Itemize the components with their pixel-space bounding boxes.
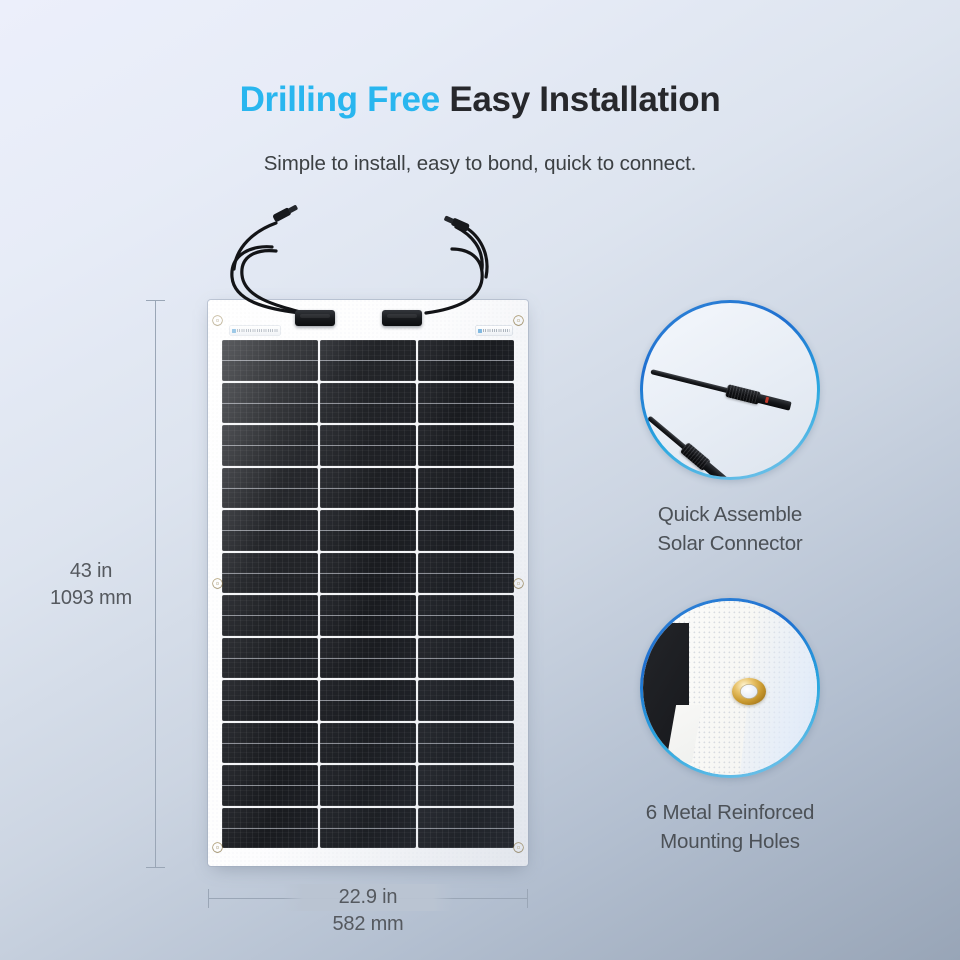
height-dimension-inches: 43 in [32, 558, 150, 585]
solar-cell [418, 723, 514, 764]
solar-cell [222, 340, 318, 381]
solar-cell [222, 765, 318, 806]
solar-cell [320, 340, 416, 381]
feature-holes-caption-line2: Mounting Holes [565, 827, 895, 856]
solar-cell [418, 765, 514, 806]
solar-cell [222, 680, 318, 721]
feature-holes-circle [640, 598, 820, 778]
solar-cell [222, 468, 318, 509]
solar-cell [320, 808, 416, 849]
mc4-tip-lower [703, 461, 739, 477]
solar-cell [222, 510, 318, 551]
height-dimension-mm: 1093 mm [32, 585, 150, 612]
page-title-rest: Easy Installation [440, 80, 721, 119]
panel-label-sticker-left [230, 326, 280, 335]
panel-label-sticker-right [476, 326, 512, 335]
solar-cell [418, 638, 514, 679]
width-dimension-cap-left [208, 889, 209, 908]
solar-cell [418, 510, 514, 551]
solar-cell [320, 553, 416, 594]
feature-connector-caption: Quick Assemble Solar Connector [565, 500, 895, 558]
mc4-connector-icon [643, 303, 817, 477]
solar-cell [320, 680, 416, 721]
mc4-connector-upper [649, 361, 809, 419]
grommet-top-left [213, 316, 222, 325]
grommet-middle-right [514, 579, 523, 588]
page-title-accent: Drilling Free [240, 80, 440, 119]
solar-cell [418, 553, 514, 594]
solar-cell [418, 383, 514, 424]
mc4-tip-upper [757, 393, 792, 410]
solar-cell [320, 723, 416, 764]
solar-cell [418, 808, 514, 849]
solar-cell [418, 340, 514, 381]
solar-panel [208, 300, 528, 868]
feature-mounting-holes: 6 Metal Reinforced Mounting Holes [565, 598, 895, 856]
page-subtitle: Simple to install, easy to bond, quick t… [0, 150, 960, 178]
solar-cell [222, 638, 318, 679]
width-dimension-inches: 22.9 in [283, 884, 453, 911]
solar-cell [418, 468, 514, 509]
solar-cell [320, 425, 416, 466]
solar-cell-array [222, 340, 514, 848]
height-dimension-cap-top [146, 300, 165, 301]
width-dimension-cap-right [527, 889, 528, 908]
header: Drilling Free Easy Installation Simple t… [0, 78, 960, 178]
width-dimension-mm: 582 mm [283, 911, 453, 938]
brass-grommet-icon [643, 601, 817, 775]
solar-cell [222, 808, 318, 849]
height-dimension-cap-bottom [146, 867, 165, 868]
feature-holes-caption-line1: 6 Metal Reinforced [565, 798, 895, 827]
feature-connector-caption-line1: Quick Assemble [565, 500, 895, 529]
page-title: Drilling Free Easy Installation [0, 78, 960, 122]
solar-cell [418, 425, 514, 466]
mc4-connector-lower [643, 409, 770, 477]
feature-holes-caption: 6 Metal Reinforced Mounting Holes [565, 798, 895, 856]
height-dimension-label: 43 in 1093 mm [32, 558, 150, 612]
solar-cell [320, 468, 416, 509]
solar-cell [320, 638, 416, 679]
feature-connector-circle [640, 300, 820, 480]
solar-cell [320, 765, 416, 806]
solar-cell [320, 510, 416, 551]
solar-cell [222, 425, 318, 466]
grommet-bottom-left [213, 843, 222, 852]
feature-connector-caption-line2: Solar Connector [565, 529, 895, 558]
grommet-bottom-right [514, 843, 523, 852]
grommet-middle-left [213, 579, 222, 588]
feature-quick-assemble-connector: Quick Assemble Solar Connector [565, 300, 895, 558]
solar-cell [222, 553, 318, 594]
mc4-cable-upper [650, 369, 733, 394]
panel-body [208, 300, 528, 866]
solar-cell [222, 383, 318, 424]
product-infographic: Drilling Free Easy Installation Simple t… [0, 0, 960, 960]
solar-cell [418, 680, 514, 721]
solar-cell [320, 383, 416, 424]
width-dimension-label: 22.9 in 582 mm [283, 884, 453, 938]
solar-cell [222, 723, 318, 764]
solar-cell [222, 595, 318, 636]
height-dimension-line [155, 300, 156, 868]
solar-cell [320, 595, 416, 636]
metal-reinforced-hole [732, 678, 766, 705]
solar-cell [418, 595, 514, 636]
grommet-top-right [514, 316, 523, 325]
